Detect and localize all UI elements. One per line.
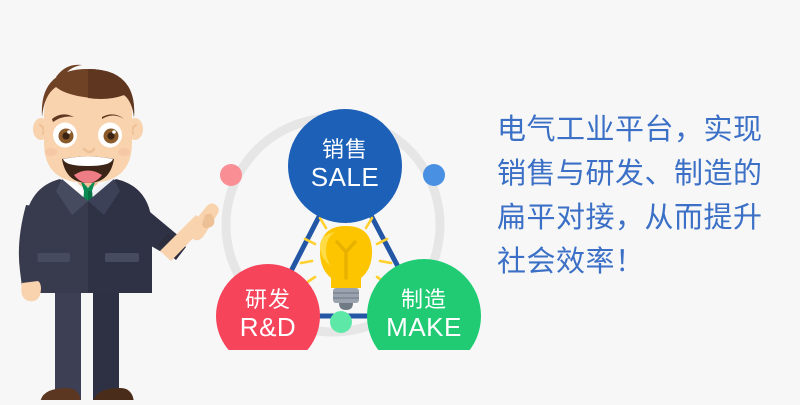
- hero-banner: 销售 SALE 研发 R&D 制造 MAKE 电气工业平台，实现 销售与研发、制…: [0, 0, 800, 400]
- accent-dot-left: [220, 164, 242, 186]
- pocket-left: [36, 253, 70, 262]
- accent-dot-right: [423, 164, 445, 186]
- process-diagram: 销售 SALE 研发 R&D 制造 MAKE: [205, 50, 490, 350]
- trouser-right: [93, 287, 119, 400]
- cheek-right: [118, 148, 130, 156]
- accent-dot-bottom: [330, 311, 352, 333]
- bulb-base: [333, 288, 359, 303]
- hand-left: [21, 281, 41, 301]
- node-circle-rd[interactable]: [216, 264, 320, 350]
- node-circle-make[interactable]: [367, 259, 481, 350]
- eye-left-glint: [67, 130, 71, 134]
- eye-right-glint: [112, 130, 116, 134]
- node-circle-sale[interactable]: [288, 109, 402, 223]
- pocket-right: [105, 253, 139, 262]
- businessman-illustration: [0, 55, 235, 400]
- cheek-left: [45, 148, 57, 156]
- bulb-contact: [339, 303, 353, 310]
- platform-slogan: 电气工业平台，实现 销售与研发、制造的 扁平对接，从而提升 社会效率！: [497, 108, 797, 284]
- trouser-left: [55, 287, 81, 400]
